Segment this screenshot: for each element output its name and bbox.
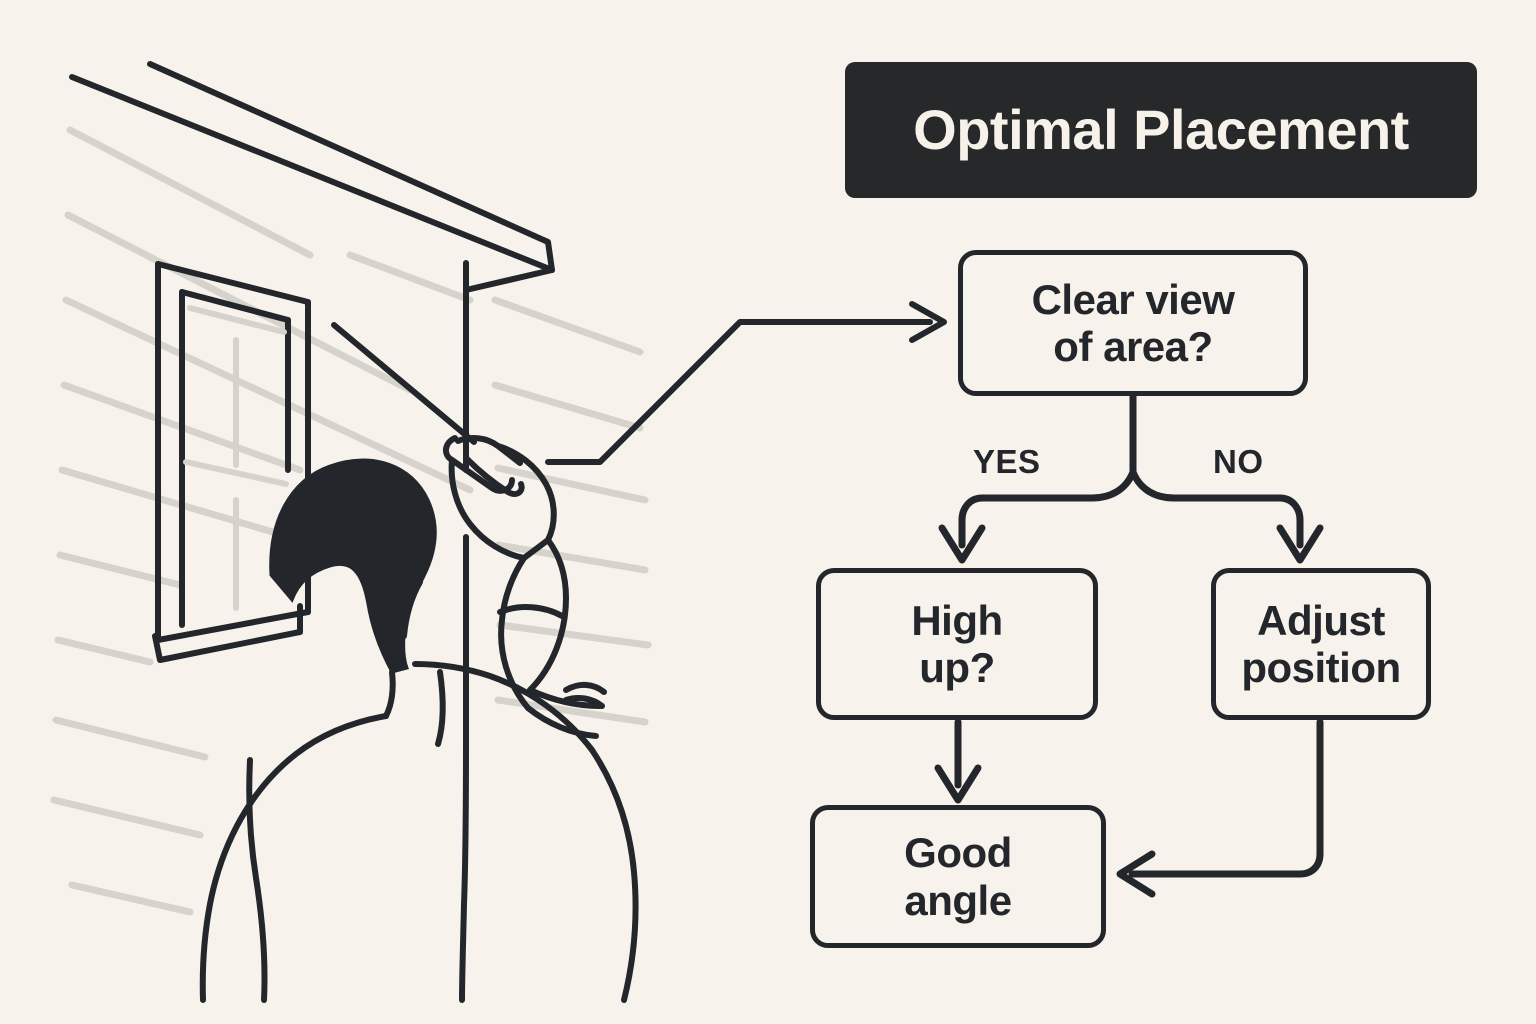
node-line-2: position — [1241, 644, 1400, 691]
node-line-2: of area? — [1032, 323, 1235, 370]
flow-node-adjust-position[interactable]: Adjust position — [1211, 568, 1431, 720]
flow-node-good-angle-label: Good angle — [896, 829, 1020, 923]
page-title: Optimal Placement — [913, 102, 1409, 158]
flow-node-clear-view[interactable]: Clear view of area? — [958, 250, 1308, 396]
flow-node-clear-view-label: Clear view of area? — [1024, 276, 1243, 370]
diagram-canvas: Optimal Placement Clear view of area? Hi… — [0, 0, 1536, 1024]
node-line-2: angle — [904, 877, 1012, 924]
edge-label-no: NO — [1213, 445, 1264, 478]
node-line-1: Clear view — [1032, 276, 1235, 323]
edge-adjust-to-goodangle — [1132, 722, 1320, 874]
node-line-1: Good — [904, 829, 1012, 876]
title-banner: Optimal Placement — [845, 62, 1477, 198]
edge-no-path — [1133, 472, 1300, 545]
flow-node-good-angle[interactable]: Good angle — [810, 805, 1106, 948]
flow-node-high-up-label: High up? — [903, 597, 1010, 691]
flow-node-adjust-position-label: Adjust position — [1233, 597, 1408, 691]
flow-node-high-up[interactable]: High up? — [816, 568, 1098, 720]
edge-label-yes: YES — [973, 445, 1041, 478]
edge-yes-path — [962, 472, 1133, 545]
node-line-2: up? — [911, 644, 1002, 691]
node-line-1: High — [911, 597, 1002, 644]
node-line-1: Adjust — [1241, 597, 1400, 644]
